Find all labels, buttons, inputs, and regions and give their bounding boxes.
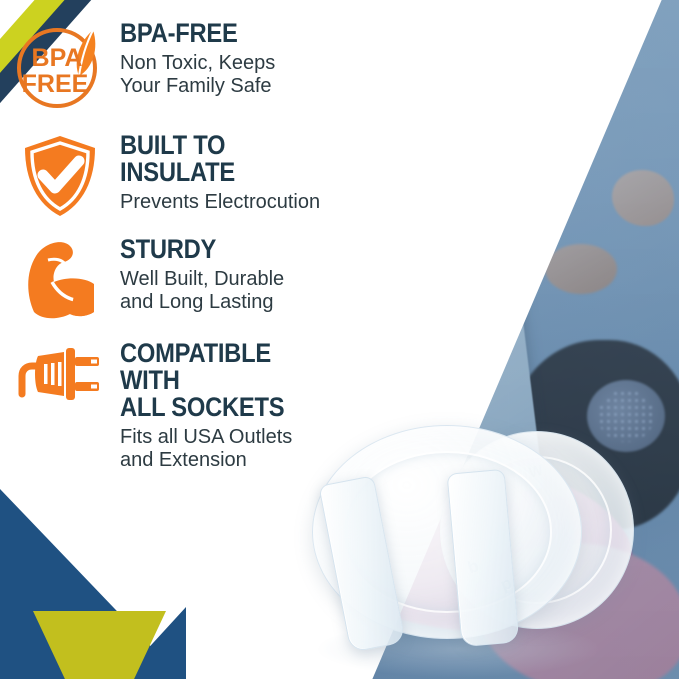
svg-text:FREE: FREE [22, 70, 89, 98]
feature-text-built-to-insulate: BUILT TO INSULATE Prevents Electrocution [120, 130, 360, 214]
sweater-button [377, 224, 390, 237]
feature-item-bpa-free: BPA FREE BPA-FREE Non Toxic, Keeps Your … [14, 18, 360, 114]
electric-plug-icon [14, 338, 106, 406]
feature-title: BPA-FREE [120, 20, 331, 47]
book-branch [411, 347, 441, 377]
feature-item-compatible-sockets: COMPATIBLE WITH ALL SOCKETS Fits all USA… [14, 338, 360, 472]
feature-list: BPA FREE BPA-FREE Non Toxic, Keeps Your … [0, 0, 360, 488]
feature-subtitle: Fits all USA Outlets and Extension [120, 426, 360, 472]
feature-title: STURDY [120, 236, 331, 263]
feature-subtitle: Well Built, Durable and Long Lasting [120, 268, 360, 314]
feature-text-bpa-free: BPA-FREE Non Toxic, Keeps Your Family Sa… [120, 18, 360, 98]
feature-title: COMPATIBLE WITH ALL SOCKETS [120, 340, 331, 421]
bpa-free-leaf-icon: BPA FREE [14, 18, 106, 114]
product-feature-graphic: W b p BPA FREE BPA-FREE Non [0, 0, 679, 679]
product-image-outlet-cover: W b p [312, 425, 632, 679]
feature-subtitle: Prevents Electrocution [120, 191, 360, 214]
feature-item-sturdy: STURDY Well Built, Durable and Long Last… [14, 234, 360, 320]
feature-item-built-to-insulate: BUILT TO INSULATE Prevents Electrocution [14, 130, 360, 218]
book-branch [434, 368, 475, 388]
shield-check-icon [14, 130, 106, 218]
feature-subtitle: Non Toxic, Keeps Your Family Safe [120, 52, 360, 98]
book-illustration-leaf [426, 382, 454, 419]
feature-title: BUILT TO INSULATE [120, 132, 331, 186]
svg-text:BPA: BPA [32, 44, 83, 72]
flexed-bicep-icon [14, 234, 106, 320]
feature-text-compatible-sockets: COMPATIBLE WITH ALL SOCKETS Fits all USA… [120, 338, 360, 472]
feature-text-sturdy: STURDY Well Built, Durable and Long Last… [120, 234, 360, 314]
